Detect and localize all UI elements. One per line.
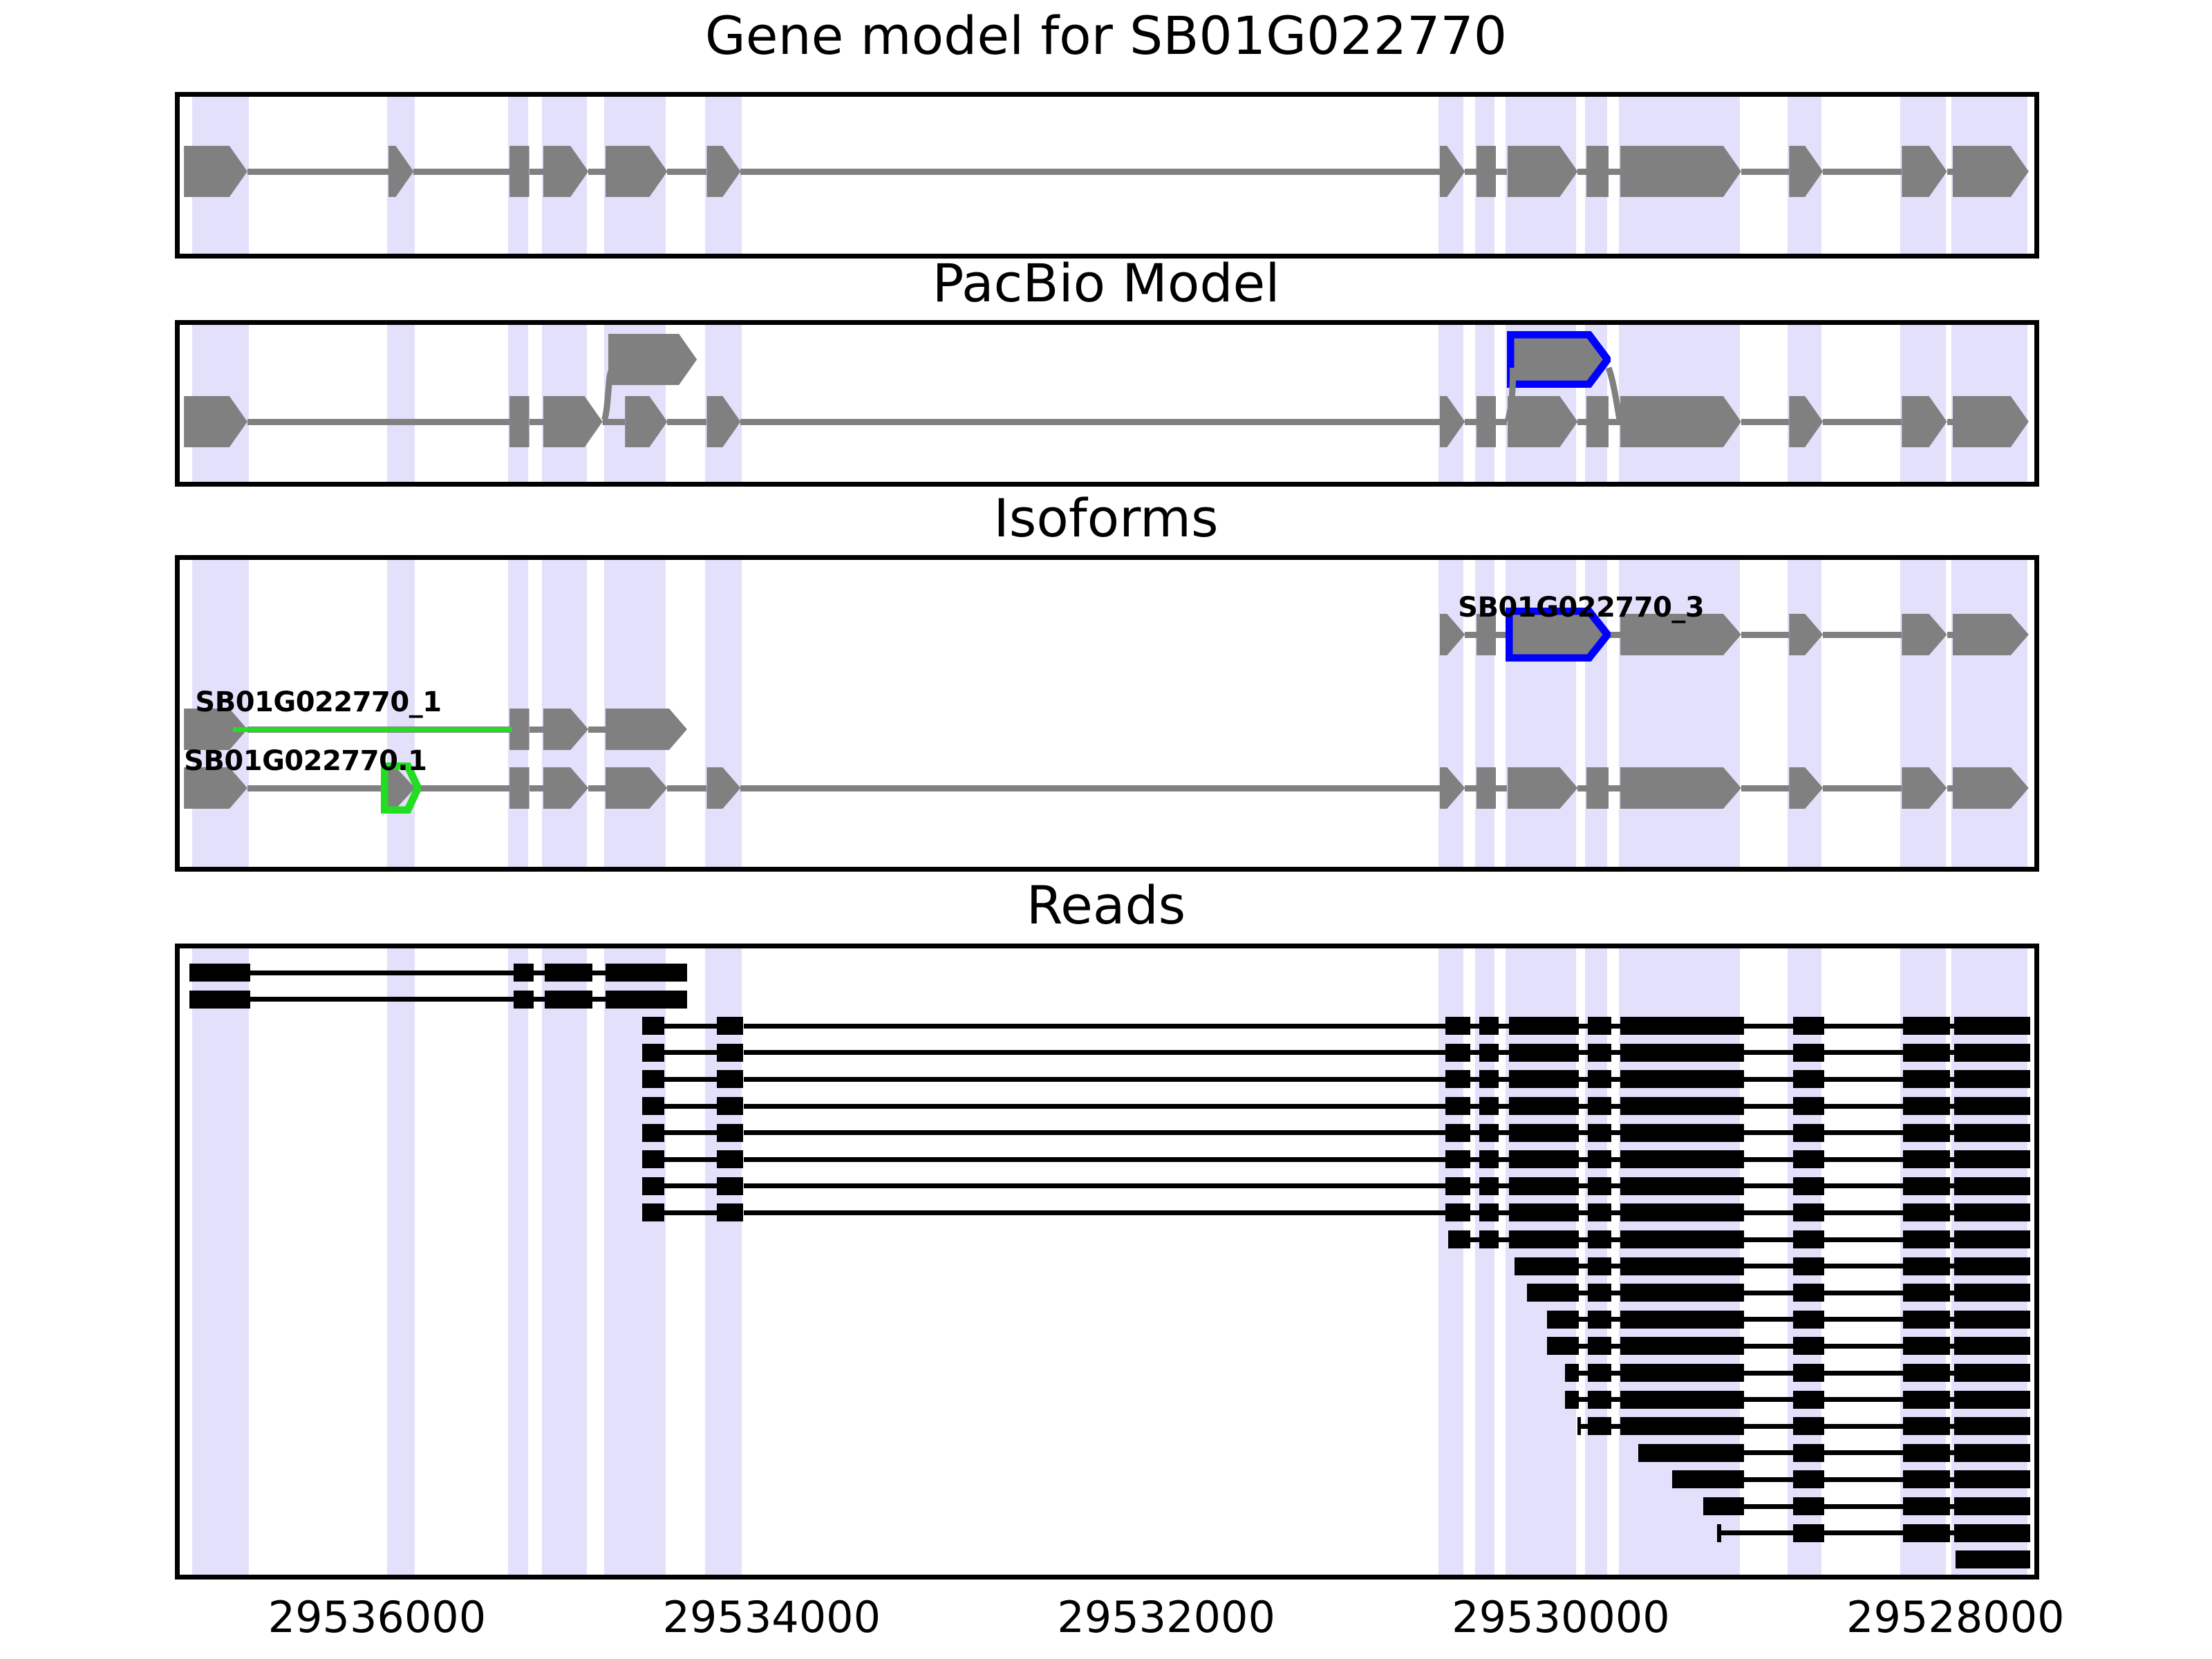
read-intron-line [1611,1104,1620,1109]
read-block [1588,1230,1612,1248]
read-intron-line [1611,1317,1620,1322]
read-intron-line [744,1157,1445,1162]
read-block [1793,1070,1824,1088]
intron-line [1496,169,1507,175]
read-block [1903,1150,1949,1168]
read-block [1793,1417,1824,1435]
read-intron-line [1744,1024,1793,1029]
highlight-band [705,560,742,867]
read-block [1954,1203,2030,1221]
read-block [1954,1044,2030,1062]
panel-isoforms: SB01G022770_3SB01G022770_1SB01G022770.1 [175,555,2039,872]
intron-line [603,419,626,425]
read-block [642,1124,665,1142]
read-intron-line [1721,1530,1793,1535]
read-block [1954,1150,2030,1168]
panel-reads [175,944,2039,1580]
intron-line [1947,169,1953,175]
highlight-band [705,948,742,1575]
read-intron-line [1744,1264,1793,1268]
exon-block [1620,396,1741,447]
read-block [1903,1364,1949,1382]
read-block [1479,1177,1499,1195]
read-block [642,1177,665,1195]
read-block [1445,1044,1471,1062]
read-intron-line [664,1104,716,1109]
read-block [1793,1497,1824,1515]
intron-line [529,419,543,425]
exon-block [606,709,687,750]
read-intron-line [1611,1344,1620,1349]
read-block [1588,1203,1612,1221]
read-intron-line [1579,1210,1587,1215]
read-block [1588,1257,1612,1275]
read-block [1672,1470,1744,1488]
read-intron-line [1744,1504,1793,1509]
read-block [189,991,250,1009]
read-block [1956,1550,2030,1568]
read-block [1903,1044,1949,1062]
read-block [717,1044,744,1062]
read-intron-line [744,1077,1445,1082]
read-intron-line [664,1077,716,1082]
read-intron-line [250,997,514,1002]
read-intron-line [664,1210,716,1215]
read-intron-line [1824,1450,1903,1455]
read-intron-line [1611,1077,1620,1082]
read-block [1954,1524,2030,1542]
intron-line [1496,785,1507,791]
read-intron-line [1499,1077,1508,1082]
read-intron-line [1824,1317,1903,1322]
read-intron-line [1824,1344,1903,1349]
read-block [189,964,250,982]
read-intron-line [1744,1157,1793,1162]
read-intron-line [1824,1530,1903,1535]
read-intron-line [1611,1371,1620,1376]
read-intron-line [1470,1157,1479,1162]
read-intron-line [1579,1183,1587,1188]
intron-line [1823,419,1902,425]
read-intron-line [1744,1317,1793,1322]
axis-tick-label: 29528000 [1846,1592,2065,1642]
intron-line [667,785,706,791]
reads-plot-area [180,948,2034,1575]
read-block [1588,1097,1612,1115]
blue-highlight-outline [1507,331,1611,388]
highlight-band [387,948,415,1575]
read-intron-line [1611,1424,1620,1429]
intron-line [1823,169,1902,175]
read-block [1565,1391,1579,1409]
read-block [717,1017,744,1035]
read-intron-line [1824,1371,1903,1376]
read-block [642,1150,665,1168]
isoform-label: SB01G022770_3 [1458,592,1704,624]
intron-line [1947,632,1953,638]
read-intron-line [1470,1210,1479,1215]
read-intron-line [1499,1050,1508,1055]
intron-line [1823,632,1902,638]
read-intron-line [1470,1183,1479,1188]
read-intron-line [1499,1024,1508,1029]
intron-line [529,727,543,733]
read-intron-line [1744,1210,1793,1215]
read-block [1954,1257,2030,1275]
read-block [1620,1124,1744,1142]
intron-line [1465,785,1476,791]
read-intron-line [1824,1397,1903,1402]
axis-tick-label: 29534000 [662,1592,881,1642]
highlight-band [1900,560,1945,867]
read-block [1717,1524,1721,1542]
read-block [1588,1150,1612,1168]
read-intron-line [1824,1424,1903,1429]
read-intron-line [1470,1077,1479,1082]
read-block [1445,1124,1471,1142]
exon-block [509,396,529,447]
read-intron-line [1824,1264,1903,1268]
read-intron-line [744,1210,1445,1215]
read-block [1577,1417,1581,1435]
read-block [1793,1097,1824,1115]
intron-line [1496,419,1507,425]
panel-title-pacbio: PacBio Model [0,257,2212,310]
read-block [1620,1337,1744,1355]
read-intron-line [1744,1477,1793,1482]
read-block [1588,1337,1612,1355]
read-block [1903,1070,1949,1088]
read-intron-line [1744,1077,1793,1082]
read-intron-line [1824,1024,1903,1029]
read-intron-line [1824,1077,1903,1082]
read-intron-line [1744,1397,1793,1402]
read-block [642,1070,665,1088]
exon-block [543,396,603,447]
read-block [1620,1150,1744,1168]
read-intron-line [1611,1157,1620,1162]
highlight-band [1951,560,2027,867]
read-block [1903,1230,1949,1248]
isoform-green-line [233,727,512,732]
read-block [1620,1044,1744,1062]
read-block [1620,1391,1744,1409]
read-intron-line [1579,1291,1587,1295]
intron-line [1465,419,1476,425]
isoform-label: SB01G022770.1 [184,745,427,777]
intron-line [529,785,543,791]
read-intron-line [1824,1050,1903,1055]
exon-block [1477,146,1497,197]
read-intron-line [1470,1104,1479,1109]
read-block [1638,1444,1744,1462]
read-block [606,964,687,982]
axis-tick-label: 29530000 [1452,1592,1670,1642]
read-block [1903,1097,1949,1115]
read-block [1903,1524,1949,1542]
read-block [1588,1284,1612,1302]
intron-line [1947,419,1953,425]
exon-block [1620,146,1741,197]
highlight-band [1438,948,1464,1575]
read-block [1509,1097,1580,1115]
read-block [1620,1230,1744,1248]
intron-line [588,785,605,791]
read-block [1793,1124,1824,1142]
read-block [1588,1070,1612,1088]
exon-block [509,767,529,809]
intron-line [1741,632,1789,638]
read-block [1903,1284,1949,1302]
read-block [1509,1070,1580,1088]
highlight-band [542,948,587,1575]
intron-line [1609,419,1620,425]
read-intron-line [1824,1237,1903,1242]
intron-line [740,169,1439,175]
read-block [1793,1337,1824,1355]
read-intron-line [1581,1424,1588,1429]
read-block [1903,1444,1949,1462]
read-block [1903,1417,1949,1435]
read-block [1793,1177,1824,1195]
intron-line [1577,785,1586,791]
read-block [606,991,687,1009]
read-block [1479,1017,1499,1035]
read-block [1445,1150,1471,1168]
read-block [1793,1150,1824,1168]
read-block [1954,1444,2030,1462]
read-intron-line [664,1183,716,1188]
gene-model-plot-area [180,97,2034,254]
read-intron-line [534,971,545,975]
read-block [1954,1284,2030,1302]
read-block [1903,1257,1949,1275]
read-block [717,1124,744,1142]
read-block [1903,1391,1949,1409]
read-intron-line [1579,1077,1587,1082]
read-intron-line [664,1130,716,1135]
read-block [1793,1364,1824,1382]
read-block [1479,1124,1499,1142]
read-block [1509,1124,1580,1142]
intron-line [1465,169,1476,175]
read-block [1588,1311,1612,1329]
read-intron-line [1824,1130,1903,1135]
pacbio-connector-curves [180,325,2039,487]
read-intron-line [1744,1183,1793,1188]
read-intron-line [664,1050,716,1055]
read-intron-line [1470,1237,1479,1242]
read-intron-line [250,971,514,975]
read-block [642,1044,665,1062]
intron-line [529,169,543,175]
read-block [514,964,534,982]
read-block [545,964,592,982]
read-intron-line [1824,1104,1903,1109]
exon-block [1477,396,1497,447]
highlight-band [1788,560,1821,867]
read-intron-line [1499,1130,1508,1135]
read-intron-line [592,971,605,975]
read-block [514,991,534,1009]
highlight-band [192,948,249,1575]
read-block [1588,1044,1612,1062]
intron-line [667,169,706,175]
read-block [1509,1017,1580,1035]
read-intron-line [1579,1397,1587,1402]
read-block [1547,1337,1580,1355]
intron-line [740,785,1439,791]
read-block [1620,1070,1744,1088]
read-block [1515,1257,1580,1275]
read-block [1954,1070,2030,1088]
read-intron-line [1744,1130,1793,1135]
read-intron-line [1824,1157,1903,1162]
intron-line [247,419,509,425]
read-block [1620,1417,1744,1435]
intron-line [413,169,509,175]
read-block [1793,1017,1824,1035]
panel-gene-model [175,92,2039,259]
read-intron-line [1499,1237,1508,1242]
read-intron-line [664,1157,716,1162]
read-block [1954,1337,2030,1355]
read-intron-line [1579,1024,1587,1029]
read-block [1954,1124,2030,1142]
read-block [1703,1497,1744,1515]
intron-line [588,727,605,733]
read-block [1793,1230,1824,1248]
intron-line [1609,169,1620,175]
read-block [1479,1070,1499,1088]
panel-title-reads: Reads [0,879,2212,932]
figure-root: Gene model for SB01G022770 PacBio Model … [0,0,2212,1659]
highlight-band [387,325,415,482]
read-block [1565,1364,1579,1382]
exon-block [1586,146,1609,197]
read-block [1903,1337,1949,1355]
read-block [1588,1124,1612,1142]
read-block [1954,1391,2030,1409]
read-intron-line [592,997,605,1002]
read-block [642,1097,665,1115]
read-intron-line [1611,1024,1620,1029]
read-block [1954,1470,2030,1488]
read-block [1620,1284,1744,1302]
read-intron-line [1579,1050,1587,1055]
read-intron-line [1824,1210,1903,1215]
read-block [1954,1230,2030,1248]
read-intron-line [1579,1264,1587,1268]
read-intron-line [1579,1344,1587,1349]
read-intron-line [1611,1210,1620,1215]
isoform-label: SB01G022770_1 [195,686,441,718]
read-block [1479,1097,1499,1115]
read-intron-line [1499,1157,1508,1162]
read-block [717,1150,744,1168]
read-intron-line [1824,1477,1903,1482]
exon-block [1477,767,1497,809]
intron-line [1577,419,1586,425]
intron-line [1741,785,1789,791]
read-block [1448,1230,1471,1248]
read-block [1903,1124,1949,1142]
intron-line [1741,169,1789,175]
read-block [1793,1257,1824,1275]
read-block [1445,1097,1471,1115]
read-block [545,991,592,1009]
exon-block [1586,396,1609,447]
read-block [1445,1177,1471,1195]
exon-block [1620,767,1741,809]
read-intron-line [1579,1317,1587,1322]
read-block [1509,1150,1580,1168]
read-block [1954,1311,2030,1329]
read-block [1793,1524,1824,1542]
exon-block [608,334,697,385]
read-block [642,1203,665,1221]
read-block [1445,1070,1471,1088]
pacbio-plot-area [180,325,2034,482]
read-intron-line [1824,1291,1903,1295]
intron-line [247,785,388,791]
read-intron-line [1579,1237,1587,1242]
intron-line [667,419,706,425]
read-block [1527,1284,1579,1302]
read-intron-line [1744,1291,1793,1295]
read-block [1954,1364,2030,1382]
read-intron-line [1611,1050,1620,1055]
read-intron-line [534,997,545,1002]
read-block [1479,1044,1499,1062]
read-intron-line [1744,1344,1793,1349]
read-intron-line [1579,1371,1587,1376]
read-block [1620,1097,1744,1115]
read-block [1954,1497,2030,1515]
exon-block [509,709,529,750]
read-block [1793,1311,1824,1329]
read-intron-line [1611,1130,1620,1135]
read-intron-line [1470,1130,1479,1135]
read-block [1509,1177,1580,1195]
highlight-band [1475,948,1495,1575]
read-block [1793,1203,1824,1221]
read-intron-line [1499,1210,1508,1215]
read-block [1793,1391,1824,1409]
read-intron-line [1579,1157,1587,1162]
read-intron-line [744,1024,1445,1029]
intron-line [1947,785,1953,791]
read-block [1445,1017,1471,1035]
read-block [1620,1257,1744,1275]
intron-line [1823,785,1902,791]
read-intron-line [1579,1104,1587,1109]
read-intron-line [1744,1371,1793,1376]
read-block [1954,1417,2030,1435]
read-block [1620,1203,1744,1221]
read-block [1620,1177,1744,1195]
read-block [1509,1230,1580,1248]
intron-line [247,169,388,175]
intron-line [588,169,605,175]
read-intron-line [1744,1104,1793,1109]
read-block [717,1177,744,1195]
read-block [1509,1203,1580,1221]
read-intron-line [1824,1183,1903,1188]
read-block [1793,1444,1824,1462]
panel-pacbio-model [175,320,2039,487]
read-block [1793,1284,1824,1302]
